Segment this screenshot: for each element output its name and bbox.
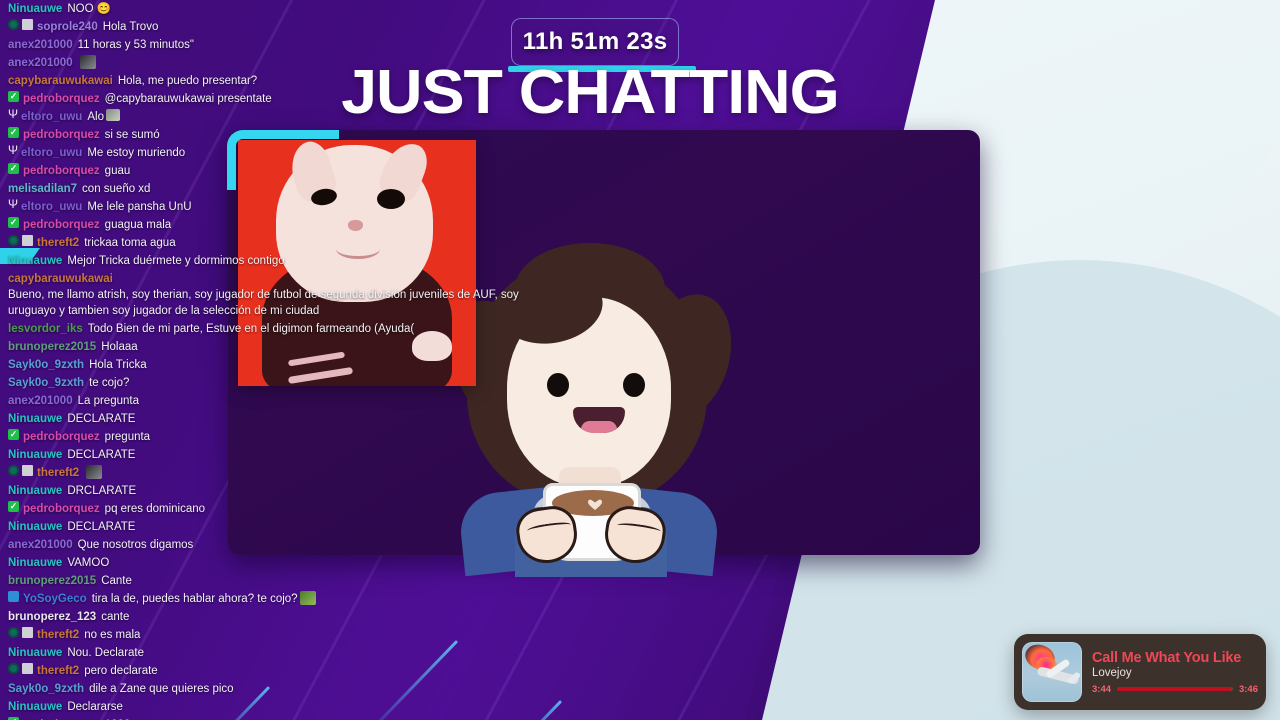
chat-username[interactable]: Ninuauwe xyxy=(8,411,62,427)
chat-message: brunoperez2015Holaaa xyxy=(6,338,554,356)
chat-message: anex20100011 horas y 53 minutos" xyxy=(6,36,554,54)
badge-gray-fig-icon xyxy=(22,235,33,246)
track-progress-bar[interactable] xyxy=(1117,687,1233,691)
chat-message-text: Bueno, me llamo atrish, soy therian, soy… xyxy=(8,287,552,319)
now-playing-widget[interactable]: Call Me What You Like Lovejoy 3:44 3:46 xyxy=(1014,634,1266,710)
chat-message-text: Hola Trovo xyxy=(103,19,159,35)
chat-message: brunoperez2015Cante xyxy=(6,572,554,590)
chat-username[interactable]: anex201000 xyxy=(8,393,73,409)
chat-username[interactable]: thereft2 xyxy=(37,627,79,643)
chat-badges xyxy=(8,429,19,440)
chat-message-text: Holaaa xyxy=(101,339,137,355)
chat-message: pedroborquezsi se sumó xyxy=(6,126,554,144)
now-playing-info: Call Me What You Like Lovejoy 3:44 3:46 xyxy=(1082,650,1258,695)
chat-message-text: @capybarauwukawai presentate xyxy=(105,91,272,107)
chat-message: NinuauweDECLARATE xyxy=(6,446,554,464)
chat-badges xyxy=(8,663,33,674)
chat-username[interactable]: brunoperez_123 xyxy=(8,609,96,625)
chat-username[interactable]: thereft2 xyxy=(37,235,79,251)
chat-username[interactable]: pedroborquez xyxy=(23,91,100,107)
track-artist: Lovejoy xyxy=(1092,667,1258,679)
chat-message: pedroborquez@capybarauwukawai presentate xyxy=(6,90,554,108)
chat-username[interactable]: Sayk0o_9zxth xyxy=(8,681,84,697)
track-progress-fill xyxy=(1117,687,1231,691)
chat-message-text: pq eres dominicano xyxy=(105,501,205,517)
chat-message-text: dile a Zane que quieres pico xyxy=(89,681,234,697)
chat-message-text: DECLARATE xyxy=(67,519,135,535)
badge-sub-green-icon xyxy=(8,163,19,174)
chat-username[interactable]: thereft2 xyxy=(37,465,79,481)
chat-username[interactable]: anex201000 xyxy=(8,537,73,553)
chat-badges xyxy=(8,627,33,638)
chat-message-text: no es mala xyxy=(84,627,140,643)
chat-message: Sayk0o_9zxthHola Tricka xyxy=(6,356,554,374)
chat-username[interactable]: Ninuauwe xyxy=(8,519,62,535)
badge-sub-green-icon xyxy=(8,217,19,228)
chat-message-text: pero declarate xyxy=(84,663,158,679)
chat-panel[interactable]: NinuauweNOO 😊soprole240Hola Trovoanex201… xyxy=(0,0,560,720)
chat-message-text: Que nosotros digamos xyxy=(78,537,194,553)
badge-mod-teal-icon xyxy=(8,235,19,246)
badge-trident-icon xyxy=(8,199,17,210)
chat-message-text: DECLARATE xyxy=(67,447,135,463)
chat-message-text: VAMOO xyxy=(67,555,109,571)
chat-message: pedroborquez1000 veces xyxy=(6,716,554,720)
chat-username[interactable]: brunoperez2015 xyxy=(8,573,96,589)
avatar-fingers-right xyxy=(617,521,662,535)
chat-username[interactable]: YoSoyGeco xyxy=(23,591,87,607)
chat-username[interactable]: capybarauwukawai xyxy=(8,271,113,287)
chat-message: pedroborquezpregunta xyxy=(6,428,554,446)
chat-message-text: con sueño xd xyxy=(82,181,150,197)
badge-trident-icon xyxy=(8,109,17,120)
chat-username[interactable]: Ninuauwe xyxy=(8,447,62,463)
chat-message-text: Me lele pansha UnU xyxy=(87,199,191,215)
chat-username[interactable]: pedroborquez xyxy=(23,429,100,445)
badge-sub-green-icon xyxy=(8,127,19,138)
chat-username[interactable]: eltoro_uwu xyxy=(21,109,82,125)
chat-message: pedroborquezguau xyxy=(6,162,554,180)
chat-message-text: Alo xyxy=(87,109,104,125)
chat-emote-icon xyxy=(300,591,316,605)
badge-trident-icon xyxy=(8,145,17,156)
chat-message: capybarauwukawaiBueno, me llamo atrish, … xyxy=(6,270,554,320)
album-art xyxy=(1022,642,1082,702)
chat-badges xyxy=(8,145,17,156)
track-title: Call Me What You Like xyxy=(1092,650,1258,666)
badge-sub-green-icon xyxy=(8,91,19,102)
chat-username[interactable]: soprole240 xyxy=(37,19,98,35)
chat-message: NinuauweDRCLARATE xyxy=(6,482,554,500)
chat-username[interactable]: Ninuauwe xyxy=(8,483,62,499)
chat-username[interactable]: Ninuauwe xyxy=(8,645,62,661)
chat-message-text: Cante xyxy=(101,573,132,589)
chat-message-text: 11 horas y 53 minutos" xyxy=(78,37,194,53)
chat-message: NinuauweVAMOO xyxy=(6,554,554,572)
chat-username[interactable]: Ninuauwe xyxy=(8,555,62,571)
chat-message-text: Nou. Declarate xyxy=(67,645,144,661)
chat-username[interactable]: melisadilan7 xyxy=(8,181,77,197)
track-duration: 3:46 xyxy=(1239,684,1258,695)
chat-message: eltoro_uwuMe lele pansha UnU xyxy=(6,198,554,216)
badge-gray-fig-icon xyxy=(22,19,33,30)
track-progress-row: 3:44 3:46 xyxy=(1092,684,1258,695)
chat-username[interactable]: thereft2 xyxy=(37,663,79,679)
chat-message-text: guau xyxy=(105,163,131,179)
chat-username[interactable]: brunoperez2015 xyxy=(8,339,96,355)
chat-message: brunoperez_123cante xyxy=(6,608,554,626)
chat-username[interactable]: Sayk0o_9zxth xyxy=(8,375,84,391)
chat-username[interactable]: Sayk0o_9zxth xyxy=(8,357,84,373)
chat-badges xyxy=(8,163,19,174)
chat-message-text: Mejor Tricka duérmete y dormimos contigo xyxy=(67,253,284,269)
chat-message: lesvordor_iksTodo Bien de mi parte, Estu… xyxy=(6,320,554,338)
chat-message: NinuauweDeclararse xyxy=(6,698,554,716)
chat-message: pedroborquezpq eres dominicano xyxy=(6,500,554,518)
chat-badges xyxy=(8,127,19,138)
chat-message: eltoro_uwuAlo xyxy=(6,108,554,126)
latte-heart-icon xyxy=(588,499,602,511)
chat-username[interactable]: pedroborquez xyxy=(23,501,100,517)
chat-badges xyxy=(8,465,33,476)
chat-message: NinuauweDECLARATE xyxy=(6,410,554,428)
track-elapsed: 3:44 xyxy=(1092,684,1111,695)
chat-message: melisadilan7con sueño xd xyxy=(6,180,554,198)
chat-message-text: pregunta xyxy=(105,429,150,445)
chat-message-text: DECLARATE xyxy=(67,411,135,427)
chat-message-text: tira la de, puedes hablar ahora? te cojo… xyxy=(92,591,298,607)
chat-message-text: Declararse xyxy=(67,699,123,715)
chat-username[interactable]: Ninuauwe xyxy=(8,1,62,17)
chat-badges xyxy=(8,235,33,246)
chat-badges xyxy=(8,591,19,602)
chat-message-text: NOO 😊 xyxy=(67,1,111,17)
chat-message-text: te cojo? xyxy=(89,375,129,391)
chat-emote-icon xyxy=(80,55,96,69)
chat-username[interactable]: capybarauwukawai xyxy=(8,73,113,89)
chat-badges xyxy=(8,19,33,30)
chat-message-text: La pregunta xyxy=(78,393,139,409)
chat-emote-icon xyxy=(106,109,120,121)
avatar-eye-right xyxy=(623,373,645,397)
chat-message: NinuauweMejor Tricka duérmete y dormimos… xyxy=(6,252,554,270)
badge-mod-teal-icon xyxy=(8,19,19,30)
chat-message-text: guagua mala xyxy=(105,217,172,233)
chat-message-text: Todo Bien de mi parte, Estuve en el digi… xyxy=(88,321,414,337)
chat-message: soprole240Hola Trovo xyxy=(6,18,554,36)
chat-badges xyxy=(8,109,17,120)
chat-message: Sayk0o_9zxthte cojo? xyxy=(6,374,554,392)
chat-emote-icon xyxy=(86,465,102,479)
chat-message: NinuauweDECLARATE xyxy=(6,518,554,536)
chat-username[interactable]: Ninuauwe xyxy=(8,699,62,715)
chat-message-text: Me estoy muriendo xyxy=(87,145,185,161)
chat-message: thereft2pero declarate xyxy=(6,662,554,680)
chat-username[interactable]: Ninuauwe xyxy=(8,253,62,269)
chat-message: capybarauwukawaiHola, me puedo presentar… xyxy=(6,72,554,90)
chat-username[interactable]: eltoro_uwu xyxy=(21,199,82,215)
chat-username[interactable]: pedroborquez xyxy=(23,127,100,143)
badge-gray-fig-icon xyxy=(22,627,33,638)
chat-message-text: cante xyxy=(101,609,129,625)
chat-badges xyxy=(8,91,19,102)
stream-overlay-stage: 11h 51m 23s JUST CHATTING NinuauweNOO 😊s… xyxy=(0,0,1280,720)
chat-message: eltoro_uwuMe estoy muriendo xyxy=(6,144,554,162)
chat-username[interactable]: eltoro_uwu xyxy=(21,145,82,161)
chat-username[interactable]: anex201000 xyxy=(8,55,73,71)
chat-message-text: DRCLARATE xyxy=(67,483,136,499)
chat-username[interactable]: anex201000 xyxy=(8,37,73,53)
badge-mod-teal-icon xyxy=(8,663,19,674)
chat-username[interactable]: lesvordor_iks xyxy=(8,321,83,337)
chat-message-text: trickaa toma agua xyxy=(84,235,175,251)
badge-mod-teal-icon xyxy=(8,465,19,476)
badge-gray-fig-icon xyxy=(22,663,33,674)
chat-message: anex201000Que nosotros digamos xyxy=(6,536,554,554)
chat-message: NinuauweNOO 😊 xyxy=(6,0,554,18)
chat-badges xyxy=(8,199,17,210)
chat-message-text: Hola, me puedo presentar? xyxy=(118,73,257,89)
chat-message: pedroborquezguagua mala xyxy=(6,216,554,234)
chat-message: anex201000 xyxy=(6,54,554,72)
chat-message: anex201000La pregunta xyxy=(6,392,554,410)
chat-message-text: si se sumó xyxy=(105,127,160,143)
chat-message: thereft2no es mala xyxy=(6,626,554,644)
badge-sub-green-icon xyxy=(8,429,19,440)
chat-message: NinuauweNou. Declarate xyxy=(6,644,554,662)
chat-message: thereft2 xyxy=(6,464,554,482)
badge-sub-green-icon xyxy=(8,501,19,512)
badge-gray-fig-icon xyxy=(22,465,33,476)
chat-message: Sayk0o_9zxthdile a Zane que quieres pico xyxy=(6,680,554,698)
chat-message: thereft2trickaa toma agua xyxy=(6,234,554,252)
chat-badges xyxy=(8,501,19,512)
badge-mod-teal-icon xyxy=(8,627,19,638)
chat-username[interactable]: pedroborquez xyxy=(23,163,100,179)
chat-username[interactable]: pedroborquez xyxy=(23,217,100,233)
chat-badges xyxy=(8,217,19,228)
badge-blue-sq-icon xyxy=(8,591,19,602)
chat-message: YoSoyGecotira la de, puedes hablar ahora… xyxy=(6,590,554,608)
chat-message-text: Hola Tricka xyxy=(89,357,147,373)
